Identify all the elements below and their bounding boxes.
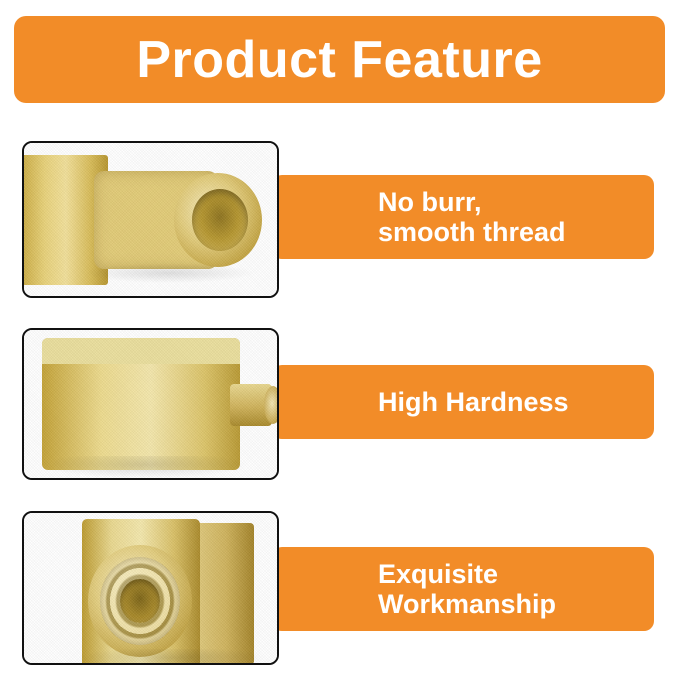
feature-photo-3-artwork [24, 513, 277, 663]
header-banner: Product Feature [14, 16, 665, 103]
feature-photo-1 [22, 141, 279, 298]
brass-elbow-top-face-shape [42, 338, 240, 364]
feature-photo-1-artwork [24, 143, 277, 296]
feature-photo-2-artwork [24, 330, 277, 478]
feature-label-2: High Hardness [378, 387, 569, 417]
brass-shadow-shape [44, 456, 244, 478]
feature-row-1: No burr, smooth thread [0, 135, 679, 300]
brass-stub-end-shape [264, 386, 279, 424]
feature-label-chip-3: Exquisite Workmanship [272, 547, 654, 631]
brass-bore-shape [192, 189, 248, 251]
brass-shadow-shape [84, 263, 254, 283]
feature-label-chip-2: High Hardness [272, 365, 654, 439]
feature-row-3: Exquisite Workmanship [0, 505, 679, 665]
brass-bore-shape [120, 579, 160, 623]
feature-label-chip-1: No burr, smooth thread [272, 175, 654, 259]
feature-row-2: High Hardness [0, 325, 679, 480]
product-feature-page: Product Feature No burr, smooth thread H… [0, 0, 679, 676]
feature-label-3: Exquisite Workmanship [378, 559, 556, 619]
brass-shadow-shape [79, 649, 264, 665]
feature-photo-3 [22, 511, 279, 665]
feature-label-1: No burr, smooth thread [378, 187, 566, 247]
feature-photo-2 [22, 328, 279, 480]
page-title: Product Feature [136, 34, 542, 86]
